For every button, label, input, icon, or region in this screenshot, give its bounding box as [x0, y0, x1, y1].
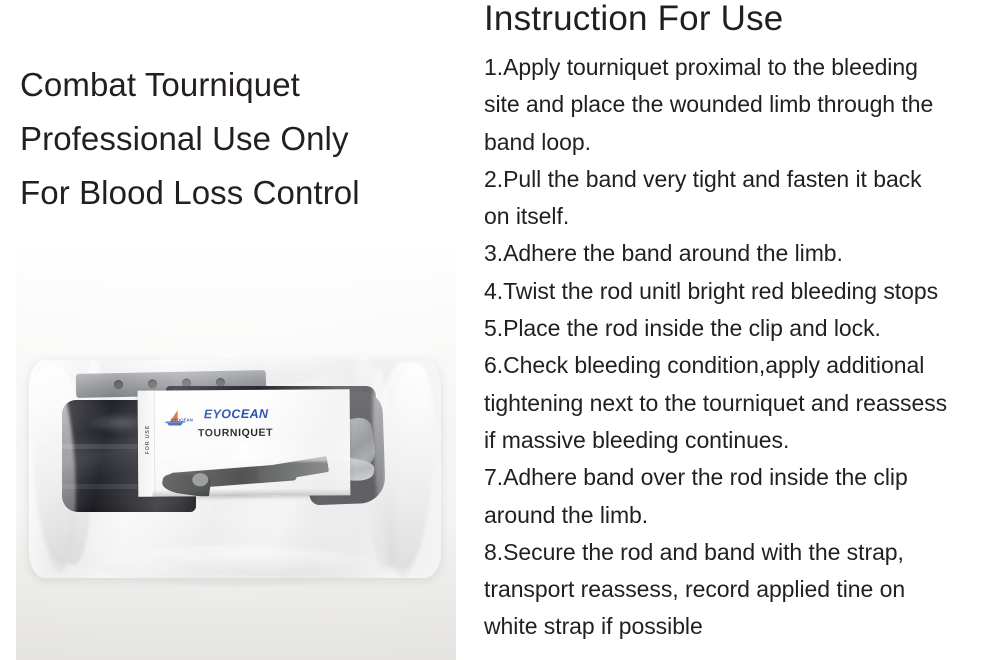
label-glare: [234, 441, 350, 462]
product-title-line-1: Combat Tourniquet: [20, 58, 460, 112]
instruction-steps-list: 1.Apply tourniquet proximal to the bleed…: [484, 49, 1000, 646]
instruction-line: 3.Adhere the band around the limb.: [484, 235, 1000, 272]
instruction-line: 4.Twist the rod unitl bright red bleedin…: [484, 273, 1000, 310]
instruction-line: if massive bleeding continues.: [484, 422, 1000, 459]
product-title: Combat Tourniquet Professional Use Only …: [20, 58, 460, 219]
eyocean-sailboat-logo-icon: EYOCEAN: [164, 408, 192, 434]
logo-caption: EYOCEAN: [171, 417, 193, 422]
instruction-line: 1.Apply tourniquet proximal to the bleed…: [484, 49, 1000, 86]
instruction-line: band loop.: [484, 124, 1000, 161]
instruction-line: 7.Adhere band over the rod inside the cl…: [484, 459, 1000, 496]
left-column: Combat Tourniquet Professional Use Only …: [0, 0, 470, 660]
label-side-strip: FOR USE: [138, 391, 156, 497]
product-label-card: FOR USE EYOCEAN EYOCEAN TOURNIQUET: [138, 389, 351, 496]
instruction-line: site and place the wounded limb through …: [484, 86, 1000, 123]
strap-art-part: [192, 473, 208, 486]
label-brand-name: EYOCEAN: [204, 407, 269, 421]
instruction-line: 6.Check bleeding condition,apply additio…: [484, 347, 1000, 384]
instruction-line: white strap if possible: [484, 608, 1000, 645]
product-instruction-page: Combat Tourniquet Professional Use Only …: [0, 0, 1000, 660]
product-title-line-3: For Blood Loss Control: [20, 166, 460, 220]
instruction-line: 5.Place the rod inside the clip and lock…: [484, 310, 1000, 347]
product-photo: FOR USE EYOCEAN EYOCEAN TOURNIQUET: [16, 252, 456, 660]
instruction-line: 8.Secure the rod and band with the strap…: [484, 534, 1000, 571]
instruction-line: on itself.: [484, 198, 1000, 235]
strap-hole: [114, 380, 123, 389]
instruction-line: 2.Pull the band very tight and fasten it…: [484, 161, 1000, 198]
product-title-line-2: Professional Use Only: [20, 112, 460, 166]
instructions-heading: Instruction For Use: [484, 0, 783, 39]
label-bottom-shadow: [152, 488, 350, 496]
instruction-line: around the limb.: [484, 497, 1000, 534]
instruction-line: tightening next to the tourniquet and re…: [484, 385, 1000, 422]
label-product-type: TOURNIQUET: [198, 427, 273, 440]
label-vertical-text: FOR USE: [145, 414, 151, 466]
right-column: Instruction For Use 1.Apply tourniquet p…: [484, 0, 1000, 660]
strap-hole: [148, 379, 157, 388]
instruction-line: transport reassess, record applied tine …: [484, 571, 1000, 608]
bag-crease: [99, 546, 379, 586]
